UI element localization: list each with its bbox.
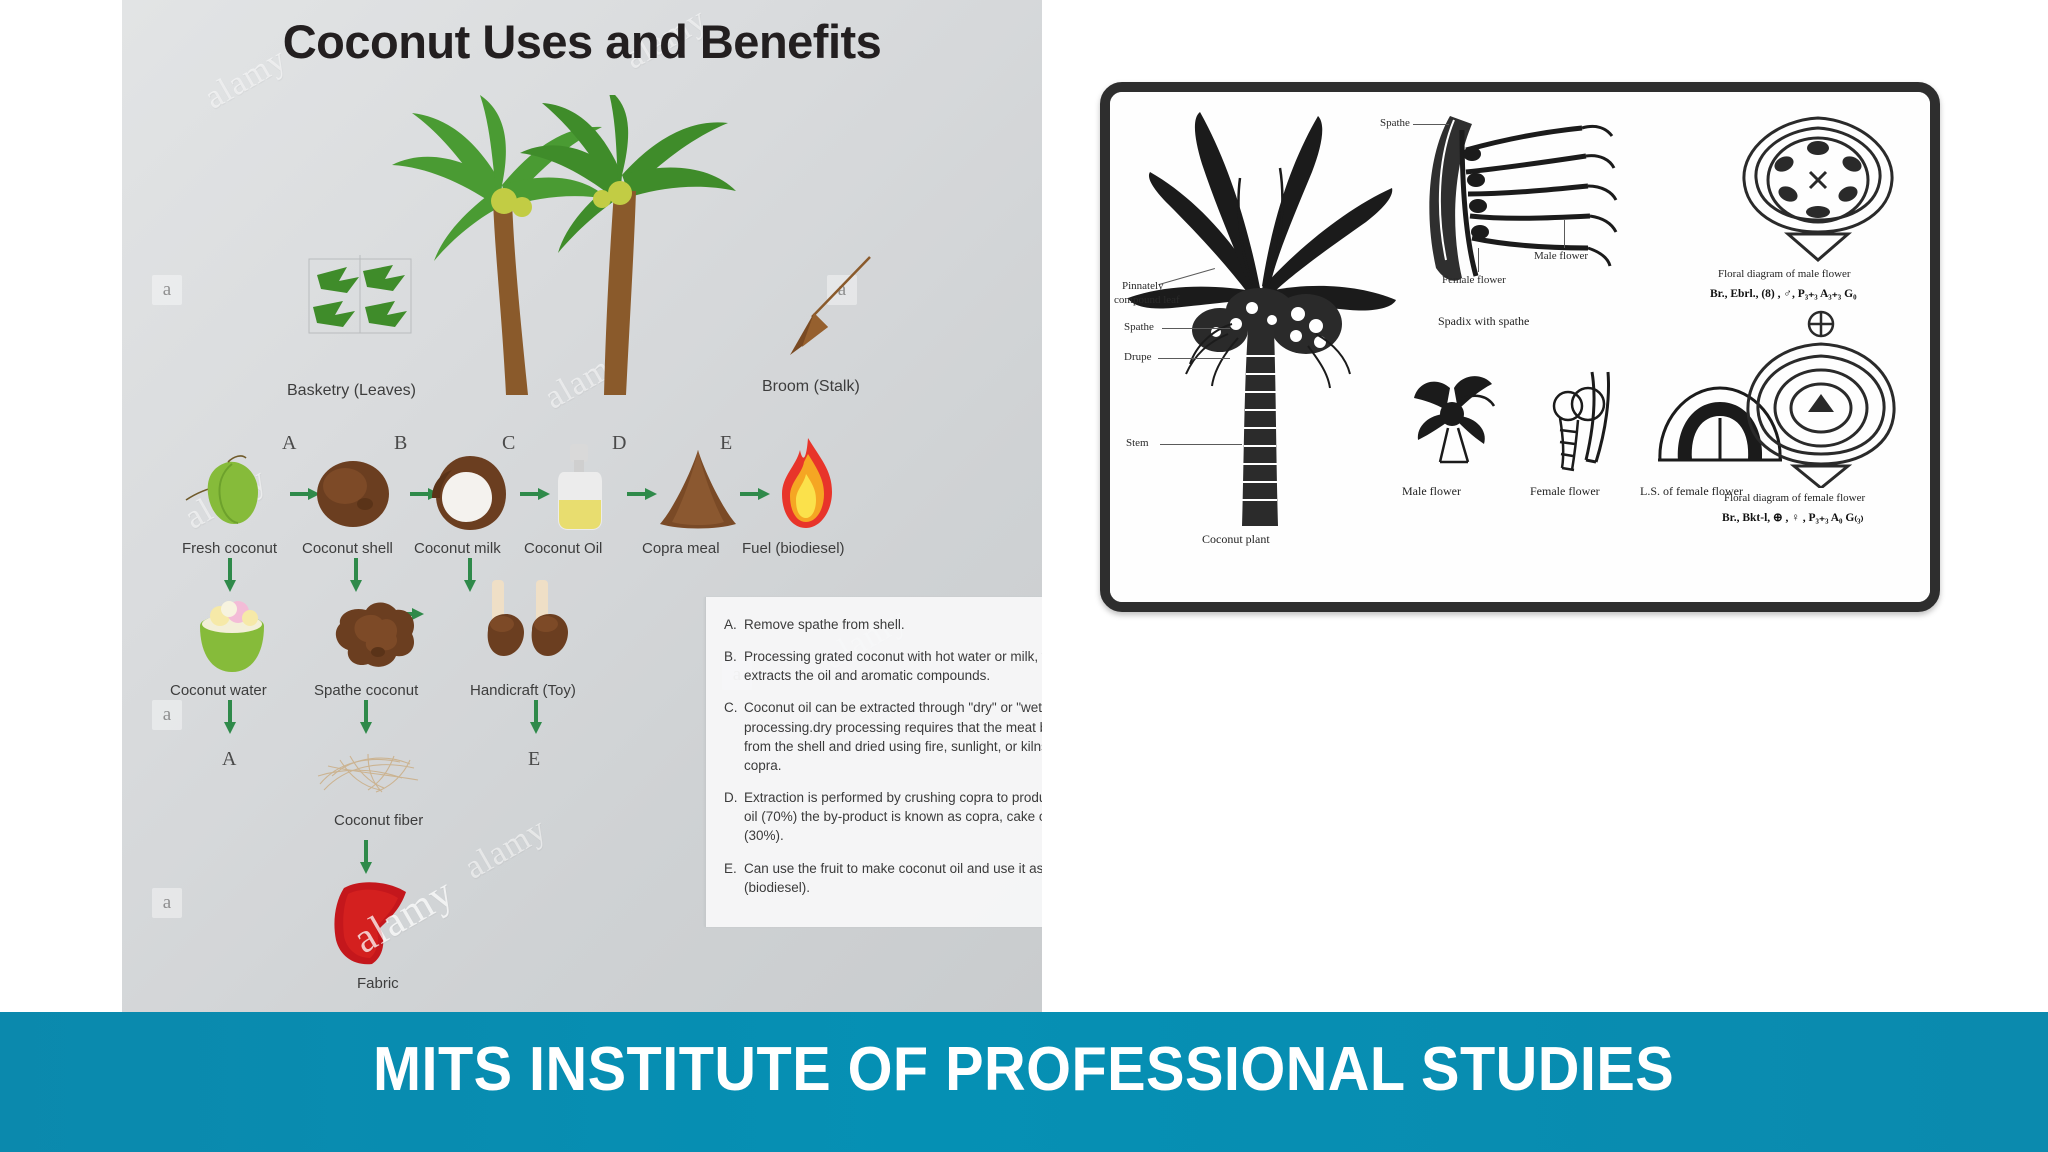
diagram-canvas: Pinnately compound leaf Spathe Drupe Ste… — [1110, 92, 1930, 602]
leader-line — [1160, 444, 1242, 445]
floral-diagram-male-drawing — [1728, 108, 1908, 268]
label-spathe-coconut: Spathe coconut — [314, 682, 418, 699]
label-fresh-coconut: Fresh coconut — [182, 540, 277, 557]
institute-name: MITS INSTITUTE OF PROFESSIONAL STUDIES — [373, 1034, 1674, 1105]
label-male-flower-spadix: Male flower — [1534, 250, 1588, 262]
note-letter: C. — [724, 698, 744, 775]
copra-meal-icon — [652, 444, 744, 534]
watermark-badge: a — [152, 275, 182, 305]
label-compound-leaf: compound leaf — [1114, 294, 1180, 306]
leader-line — [1413, 124, 1449, 125]
leader-line — [1564, 220, 1565, 248]
caption-coconut-plant: Coconut plant — [1202, 532, 1270, 547]
label-coconut-milk: Coconut milk — [414, 540, 501, 557]
caption-male-flower: Male flower — [1402, 484, 1461, 499]
slide: alamy alamy alamy alamy alamy alamy a a … — [0, 0, 2048, 1152]
leader-line — [1162, 328, 1230, 329]
note-letter: B. — [724, 647, 744, 685]
label-basketry-leaves: Basketry (Leaves) — [287, 382, 416, 400]
label-broom-stalk: Broom (Stalk) — [762, 378, 860, 396]
label-spathe-spadix: Spathe — [1380, 117, 1410, 129]
arrow-down-icon — [350, 558, 362, 592]
arrow-down-icon — [224, 558, 236, 592]
watermark-badge: a — [152, 888, 182, 918]
label-coconut-shell: Coconut shell — [302, 540, 393, 557]
label-coconut-oil: Coconut Oil — [524, 540, 602, 557]
note-item: A. Remove spathe from shell. — [724, 615, 1042, 634]
down-letter-a: A — [222, 748, 236, 771]
infographic-title: Coconut Uses and Benefits — [122, 14, 1042, 69]
fabric-icon — [314, 876, 434, 972]
spathe-coconut-icon — [322, 596, 430, 676]
process-notes-card: A. Remove spathe from shell. B. Processi… — [705, 597, 1042, 927]
coconut-shell-icon — [307, 452, 399, 532]
broom-stalk-icon — [772, 255, 882, 365]
coconut-botany-diagram: Pinnately compound leaf Spathe Drupe Ste… — [1100, 82, 1940, 612]
coconut-plant-drawing — [1120, 98, 1400, 528]
label-coconut-fiber: Coconut fiber — [334, 812, 423, 829]
spadix-with-spathe-drawing — [1410, 110, 1640, 290]
label-handicraft-toy: Handicraft (Toy) — [470, 682, 576, 699]
leader-line — [1478, 248, 1479, 272]
note-item: D. Extraction is performed by crushing c… — [724, 788, 1042, 845]
caption-floral-diagram-female: Floral diagram of female flower — [1724, 492, 1865, 504]
label-coconut-water: Coconut water — [170, 682, 267, 699]
floral-formula-female: Br., Bkt-l, ⊕ , ♀ , P₃₊₃ A₀ G₍₃₎ — [1722, 510, 1863, 524]
arrow-right-icon — [740, 488, 770, 500]
watermark-badge: a — [152, 700, 182, 730]
coconut-uses-infographic: alamy alamy alamy alamy alamy alamy a a … — [122, 0, 1042, 1018]
basketry-leaves-icon — [307, 255, 417, 350]
diagram-frame: Pinnately compound leaf Spathe Drupe Ste… — [1100, 82, 1940, 612]
note-item: E. Can use the fruit to make coconut oil… — [724, 859, 1042, 897]
label-spathe: Spathe — [1124, 321, 1154, 333]
label-drupe: Drupe — [1124, 351, 1152, 363]
note-letter: D. — [724, 788, 744, 845]
label-female-flower-spadix: Female flower — [1442, 274, 1506, 286]
male-flower-drawing — [1400, 370, 1510, 480]
coconut-fiber-icon — [310, 746, 440, 806]
caption-spadix-with-spathe: Spadix with spathe — [1438, 314, 1529, 329]
label-pinnately: Pinnately — [1122, 280, 1164, 292]
step-letter-a: A — [282, 432, 296, 455]
institute-banner: MITS INSTITUTE OF PROFESSIONAL STUDIES — [0, 1012, 2048, 1152]
note-letter: A. — [724, 615, 744, 634]
diagram-reflection: Coconut plant Male flower Female flower … — [1100, 616, 1940, 836]
fuel-biodiesel-flame-icon — [772, 436, 844, 534]
floral-formula-male: Br., Ebrl., (8) , ♂, P₃₊₃ A₃₊₃ G₀ — [1710, 286, 1857, 300]
floral-diagram-female-drawing — [1736, 308, 1906, 488]
label-stem: Stem — [1126, 437, 1149, 449]
caption-female-flower: Female flower — [1530, 484, 1600, 499]
note-item: C. Coconut oil can be extracted through … — [724, 698, 1042, 775]
label-fuel-biodiesel: Fuel (biodiesel) — [742, 540, 845, 557]
leader-line — [1158, 358, 1230, 359]
label-copra-meal: Copra meal — [642, 540, 720, 557]
fresh-coconut-icon — [184, 452, 280, 532]
note-text: Extraction is performed by crushing copr… — [744, 788, 1042, 845]
label-fabric: Fabric — [357, 975, 399, 992]
palm-trees-illustration — [352, 95, 812, 405]
note-item: B. Processing grated coconut with hot wa… — [724, 647, 1042, 685]
coconut-milk-icon — [422, 450, 514, 534]
arrow-down-icon — [360, 700, 372, 734]
arrow-down-icon — [224, 700, 236, 734]
down-letter-e: E — [528, 748, 540, 771]
coconut-water-icon — [184, 598, 280, 680]
note-text: Coconut oil can be extracted through "dr… — [744, 698, 1042, 775]
note-text: Remove spathe from shell. — [744, 615, 1042, 634]
female-flower-drawing — [1530, 368, 1630, 480]
note-text: Can use the fruit to make coconut oil an… — [744, 859, 1042, 897]
note-text: Processing grated coconut with hot water… — [744, 647, 1042, 685]
arrow-down-icon — [530, 700, 542, 734]
caption-floral-diagram-male: Floral diagram of male flower — [1718, 268, 1851, 280]
arrow-down-icon — [360, 840, 372, 874]
handicraft-toy-icon — [474, 580, 584, 680]
note-letter: E. — [724, 859, 744, 897]
watermark-alamy: alamy — [458, 811, 553, 888]
coconut-oil-bottle-icon — [542, 442, 618, 534]
